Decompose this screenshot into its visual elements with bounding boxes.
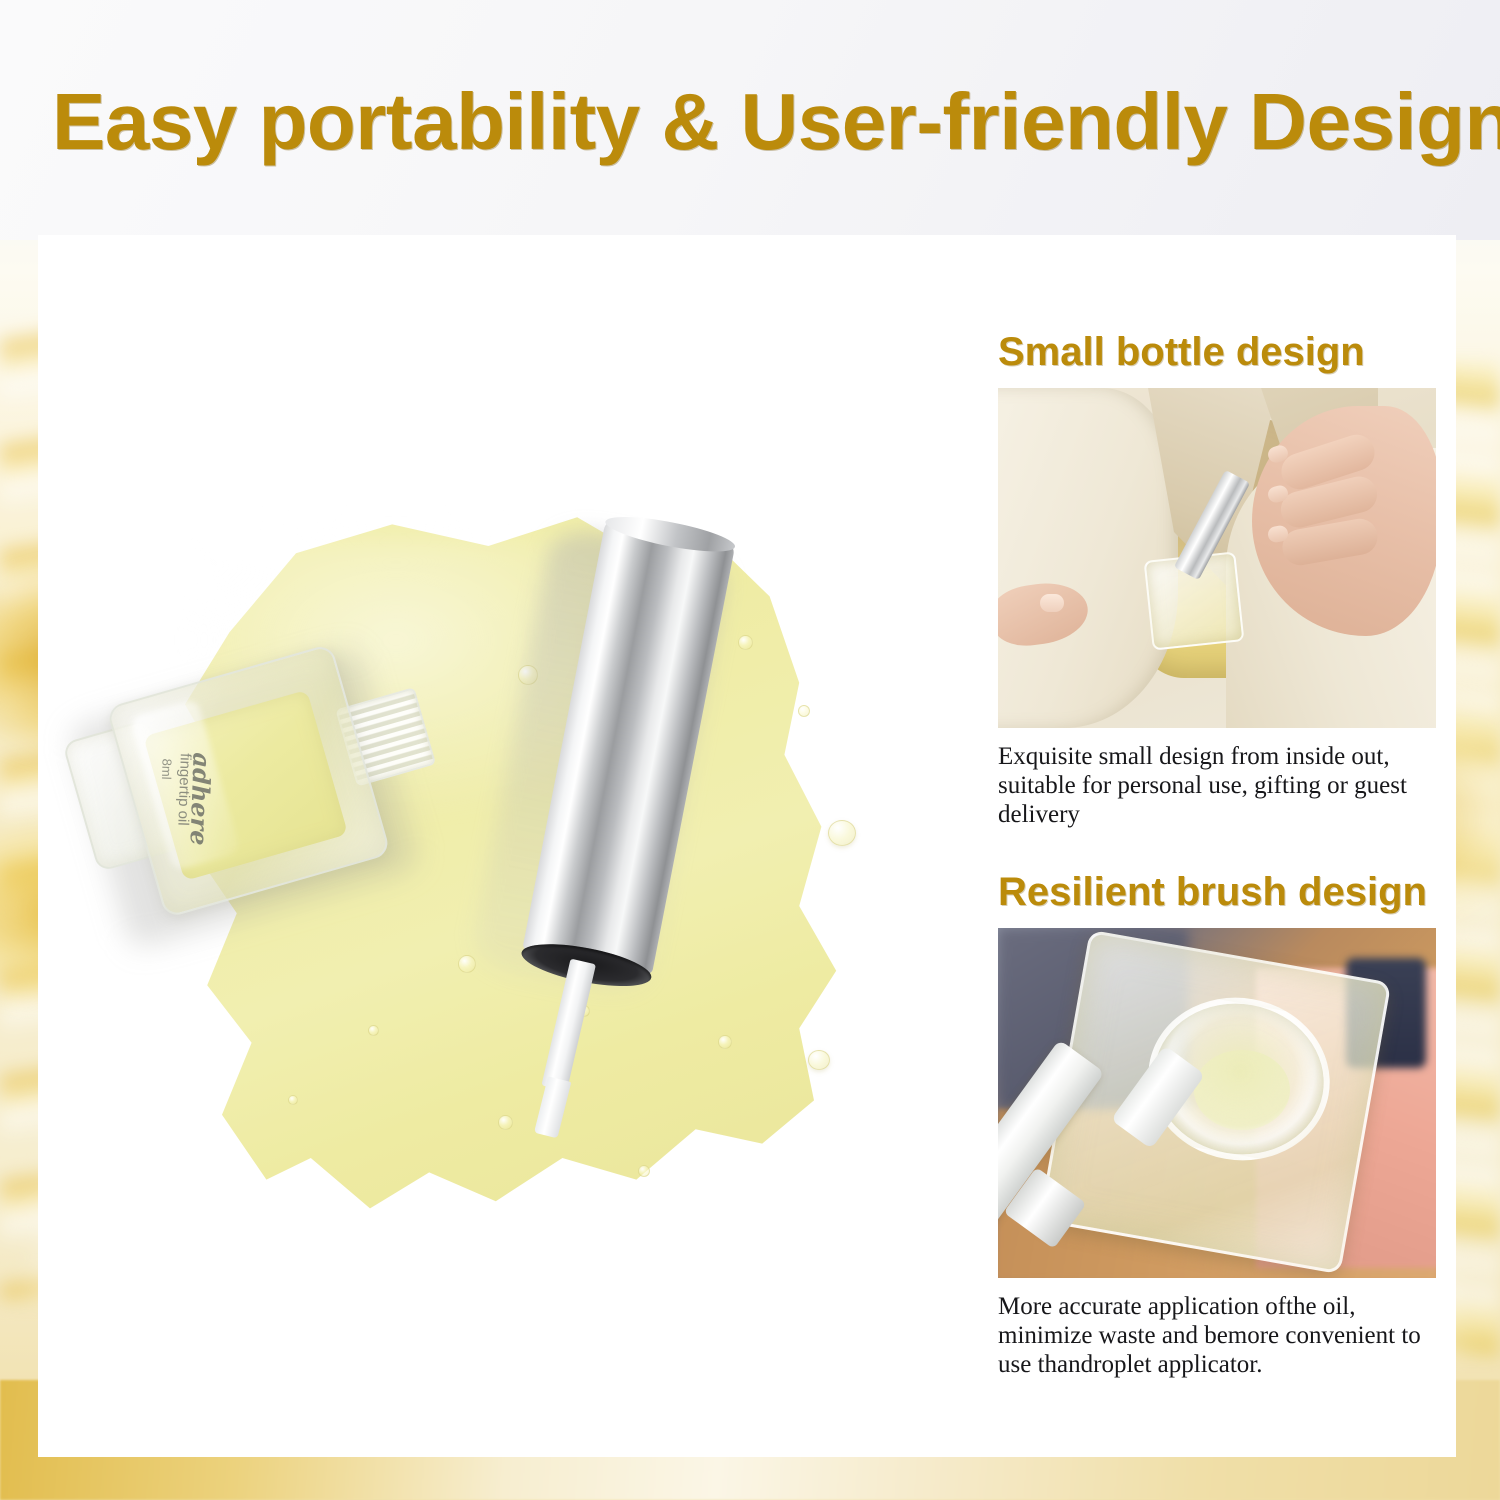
content-card: adhere fingertip oil 8ml Small bottle de…: [38, 235, 1456, 1457]
feature-block-small-bottle: Small bottle design: [998, 330, 1446, 829]
bottle-product-label: fingertip oil: [174, 753, 194, 826]
feature-photo-small-bottle: [998, 388, 1436, 728]
oil-bubble: [458, 955, 476, 973]
oil-bubble: [638, 1165, 650, 1177]
oil-bubble: [718, 1035, 732, 1049]
oil-bubble: [498, 1115, 513, 1130]
bottle-volume-label: 8ml: [159, 758, 175, 779]
feature-block-resilient-brush: Resilient brush design More accurate app…: [998, 870, 1446, 1379]
product-feature-page: Easy portability & User-friendly Design: [0, 0, 1500, 1500]
hero-product-image: adhere fingertip oil 8ml: [38, 235, 978, 1457]
tote-bag-left-panel: [998, 388, 1178, 728]
feature-title-small-bottle: Small bottle design: [998, 330, 1446, 374]
oil-bubble: [798, 705, 810, 717]
thumbnail: [1040, 594, 1064, 612]
feature-caption-small-bottle: Exquisite small design from inside out, …: [998, 742, 1446, 829]
oil-bubble: [288, 1095, 298, 1105]
feature-column: Small bottle design: [978, 235, 1456, 1457]
feature-title-resilient-brush: Resilient brush design: [998, 870, 1446, 914]
oil-droplet: [828, 820, 856, 846]
page-title: Easy portability & User-friendly Design: [52, 80, 1462, 164]
feature-caption-resilient-brush: More accurate application ofthe oil, min…: [998, 1292, 1446, 1379]
oil-droplet: [808, 1050, 830, 1070]
feature-photo-resilient-brush: [998, 928, 1436, 1278]
oil-bubble: [368, 1025, 379, 1036]
